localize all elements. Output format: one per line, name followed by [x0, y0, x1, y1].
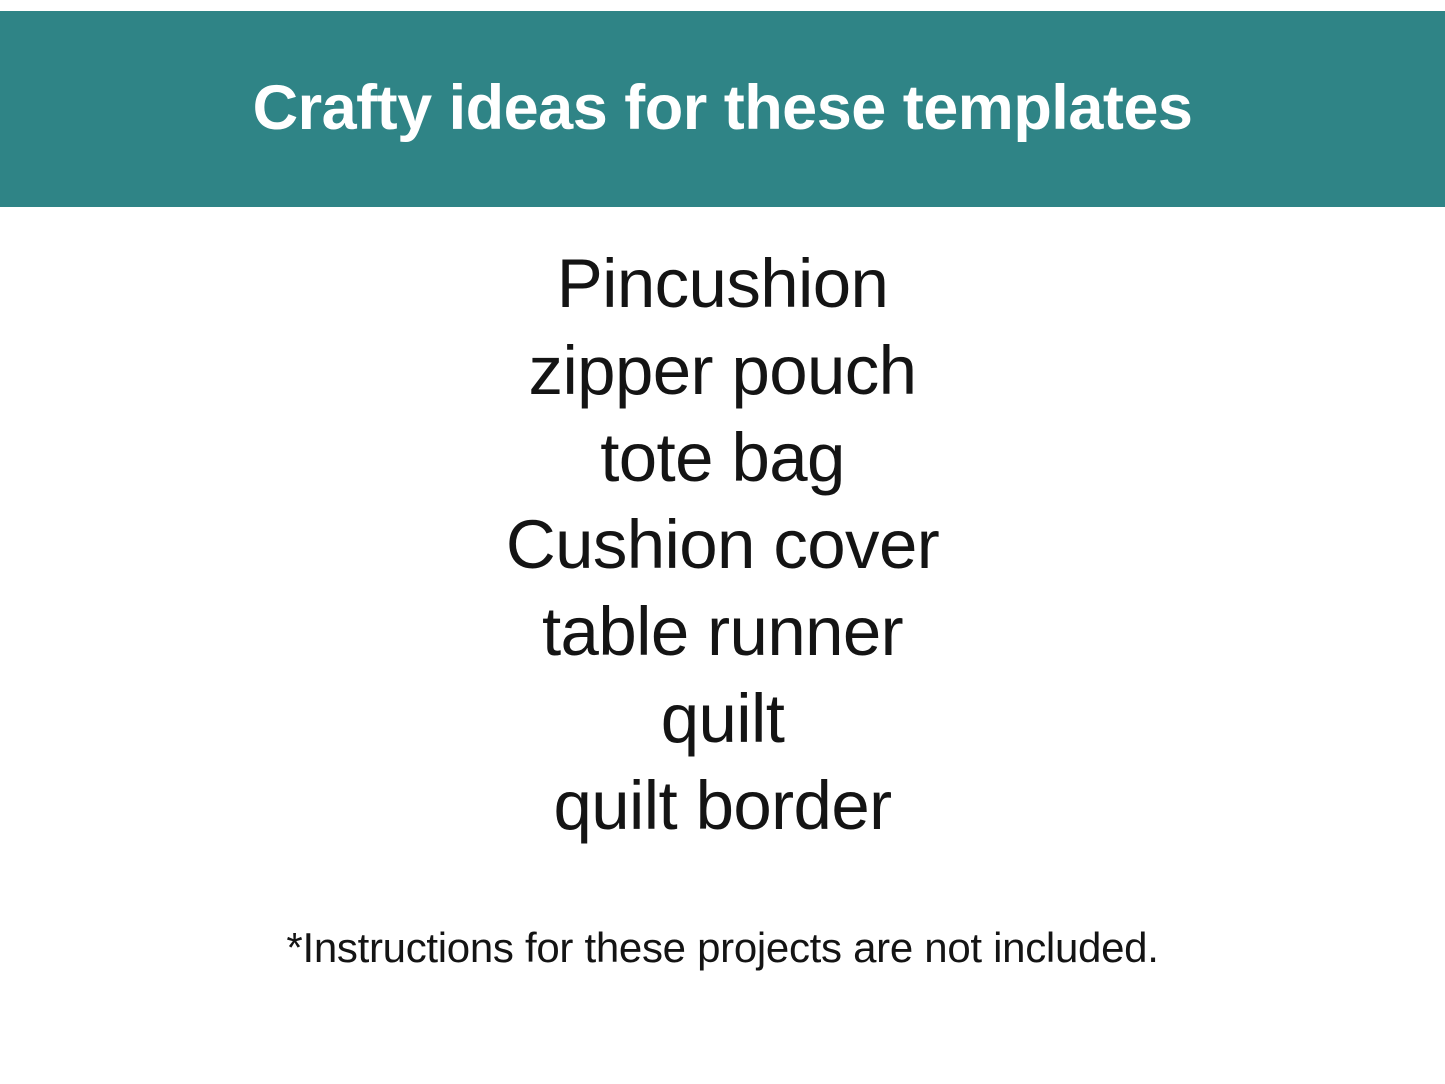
page-title: Crafty ideas for these templates: [253, 75, 1193, 141]
list-item: tote bag: [0, 414, 1445, 501]
header-band: Crafty ideas for these templates: [0, 11, 1445, 207]
list-item: Pincushion: [0, 240, 1445, 327]
footnote-text: *Instructions for these projects are not…: [0, 922, 1445, 974]
crafty-ideas-list: Pincushion zipper pouch tote bag Cushion…: [0, 240, 1445, 849]
list-item: table runner: [0, 588, 1445, 675]
list-item: Cushion cover: [0, 501, 1445, 588]
list-item: zipper pouch: [0, 327, 1445, 414]
slide-canvas: Crafty ideas for these templates Pincush…: [0, 0, 1445, 1084]
list-item: quilt: [0, 675, 1445, 762]
list-item: quilt border: [0, 762, 1445, 849]
